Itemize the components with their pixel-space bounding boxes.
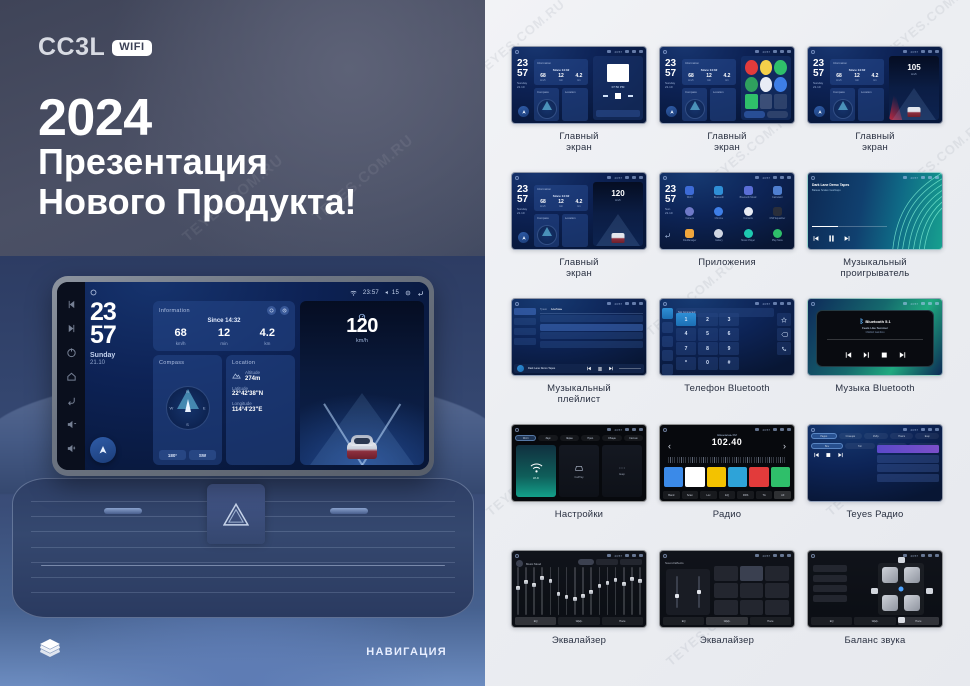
eq-slider[interactable]: [623, 567, 625, 615]
progress-bar[interactable]: [812, 226, 887, 227]
eq-toolbar[interactable]: EQЭфф.Поле: [663, 617, 791, 625]
mini-hud-speed: 105: [889, 63, 939, 72]
eq-toolbar[interactable]: EQЭфф.Поле: [515, 617, 643, 625]
favorite-icon[interactable]: [777, 313, 791, 326]
preset-5[interactable]: [749, 467, 768, 487]
compass-n: N: [186, 389, 189, 394]
key-hash[interactable]: #: [719, 357, 739, 370]
thumbnail-bt-phone[interactable]: 23:57 Not Connected 1 2 3 4 5 6 7: [659, 298, 795, 376]
compass-heading: 180°: [159, 450, 186, 460]
since-label: Since 14:32: [159, 318, 289, 324]
home-icon[interactable]: [66, 371, 77, 382]
gallery-item[interactable]: 23:57 2357 Sunday21.10 InformationSince …: [807, 46, 943, 166]
headline-line-1: Презентация: [38, 142, 357, 182]
gallery-caption: Эквалайзер: [552, 636, 606, 647]
thumbnail-music-player[interactable]: 23:57 Dark Lane Demo Tapes: [807, 172, 943, 250]
eq-slider[interactable]: [615, 567, 617, 615]
gallery-item[interactable]: 23:57 Dark Lane Demo Tapes: [807, 172, 943, 292]
app-item[interactable]: Contacts: [735, 204, 762, 225]
stop-icon: [880, 351, 889, 359]
previous-icon: [844, 351, 853, 359]
key-9[interactable]: 9: [719, 342, 739, 355]
app-label: Gallery: [715, 239, 723, 242]
key-star[interactable]: *: [676, 357, 696, 370]
compass-w: W: [170, 406, 174, 411]
latitude-value: 22°42'38"N: [232, 391, 289, 397]
thumbnail-home-hud[interactable]: 23:57 2357 Sunday21.10 InformationSince …: [807, 46, 943, 124]
bt-version-text: Bluetooth 5.1: [865, 319, 890, 324]
balance-up-button[interactable]: [898, 557, 905, 563]
gallery-caption: Главныйэкран: [559, 258, 598, 279]
stat-unit: km/h: [159, 341, 202, 346]
phone-sidebar[interactable]: [662, 308, 673, 375]
playlist-sidebar[interactable]: [514, 308, 536, 345]
hazard-light-button[interactable]: [207, 484, 265, 544]
tab-display[interactable]: Экран: [560, 435, 579, 441]
equalizer-sliders[interactable]: [517, 567, 641, 615]
volume-up-icon[interactable]: [66, 443, 77, 454]
eq-slider[interactable]: [590, 567, 592, 615]
stat-value: 12: [202, 328, 245, 339]
tab-tracks[interactable]: Треки: [540, 308, 547, 311]
longitude-value: 114°4'23"E: [232, 407, 289, 413]
gallery-item[interactable]: 23:57 Wi-Fi Звук Экран Прил. Общие Систе…: [511, 424, 647, 544]
gallery-item[interactable]: 23:57 РадиоСтанцииИзбр.ПоискЕщё ВсеТопЖа…: [807, 424, 943, 544]
eq-slider[interactable]: [533, 567, 535, 615]
app-item[interactable]: Gallery: [705, 225, 732, 246]
volume-value: 15: [392, 290, 399, 296]
app-item[interactable]: Bluetooth: [705, 182, 732, 203]
vent-slider-right[interactable]: [330, 508, 368, 514]
compass-s: S: [186, 422, 189, 427]
gallery-item[interactable]: 23:57 2357 Sun21.10 Wi-Fi Bluetooth Blue…: [659, 172, 795, 292]
playback-controls[interactable]: [812, 234, 851, 243]
key-3[interactable]: 3: [719, 313, 739, 326]
trip-stats: 68 km/h 12 min 4.2 km: [159, 328, 289, 346]
thumbnail-teyes-radio[interactable]: 23:57 РадиоСтанцииИзбр.ПоискЕщё ВсеТопЖа…: [807, 424, 943, 502]
location-card[interactable]: Location Altitude 274m: [226, 355, 295, 465]
prev-track-icon[interactable]: [66, 299, 77, 310]
eq-slider[interactable]: [550, 567, 552, 615]
app-item[interactable]: Wi-Fi: [676, 182, 703, 203]
play-pause-icon: [862, 351, 871, 359]
key-8[interactable]: 8: [698, 342, 718, 355]
bt-version-label: Bluetooth 5.1: [817, 318, 933, 324]
thumbnail-equalizer-bars[interactable]: 23:57 Music Mood: [511, 550, 647, 628]
bt-playback-controls[interactable]: [817, 351, 933, 359]
hero-footer: НАВИГАЦИЯ: [0, 626, 485, 686]
gallery-caption: Радио: [713, 510, 741, 521]
gallery-panel: TEYES.COM.RU TEYES.COM.RU TEYES.COM.RU T…: [485, 0, 970, 686]
back-arrow-icon[interactable]: [66, 395, 77, 406]
call-icon[interactable]: [777, 342, 791, 355]
gallery-caption: Телефон Bluetooth: [684, 384, 770, 395]
key-6[interactable]: 6: [719, 328, 739, 341]
gallery-item[interactable]: 23:57 Шэньчжэнь FM 102.40 ‹ ›: [659, 424, 795, 544]
gallery-caption: Музыкальныйпроигрыватель: [841, 258, 910, 279]
thumbnail-equalizer-presets[interactable]: 23:57 Sound Effects EQЭфф.Поле: [659, 550, 795, 628]
tab-sound[interactable]: Звук: [538, 435, 557, 441]
status-bar: 23:57 15: [90, 286, 424, 299]
eq-slider[interactable]: [525, 567, 527, 615]
gallery-caption: Главныйэкран: [707, 132, 746, 153]
dial-keypad[interactable]: 1 2 3 4 5 6 7 8 9 * 0 #: [676, 313, 739, 370]
refresh-icon[interactable]: [267, 306, 276, 315]
product-logo: CC3L WIFI: [38, 33, 152, 62]
mountain-icon: [232, 372, 241, 379]
thumbnail-home-apps[interactable]: 23:57 2357 Sunday21.10 InformationSince …: [659, 46, 795, 124]
setting-card-wifi[interactable]: Wi-Fi: [516, 445, 556, 497]
next-icon: [843, 235, 851, 242]
app-item[interactable]: DSP Equalizer: [764, 204, 791, 225]
longitude-label: Longitude: [232, 401, 289, 406]
app-grid[interactable]: Wi-Fi Bluetooth Bluetooth Music Calculat…: [676, 182, 791, 246]
wifi-icon[interactable]: [350, 290, 357, 296]
app-label: Chrome: [715, 217, 724, 220]
gallery-caption: Приложения: [698, 258, 756, 269]
eq-slider[interactable]: [582, 567, 584, 615]
app-label: Wi-Fi: [687, 196, 693, 199]
settings-tabs[interactable]: Wi-Fi Звук Экран Прил. Общие Систем: [515, 435, 643, 441]
app-item[interactable]: Music Player: [735, 225, 762, 246]
app-label: DSP Equalizer: [770, 217, 786, 220]
app-label: Music Player: [741, 239, 755, 242]
radio-next-button[interactable]: ›: [783, 442, 786, 451]
pause-icon: [827, 234, 836, 243]
history-icon[interactable]: [280, 306, 289, 315]
balance-left-button[interactable]: [871, 588, 878, 594]
navigation-fab-button[interactable]: [90, 437, 116, 463]
thumbnail-home-hud2[interactable]: 23:57 2357 Sunday21.10 InformationSince …: [511, 172, 647, 250]
latitude-label: Latitude: [232, 386, 289, 391]
app-item[interactable]: Bluetooth Music: [735, 182, 762, 203]
clock-minutes: 57: [90, 324, 148, 347]
tab-apps[interactable]: Прил.: [581, 435, 600, 441]
balance-right-button[interactable]: [926, 588, 933, 594]
stat-item: 12 min: [202, 328, 245, 346]
stat-unit: km: [246, 341, 289, 346]
preset-6[interactable]: [771, 467, 790, 487]
track-title: Dark Lane Demo Tapes: [812, 183, 895, 187]
thumbnail-settings[interactable]: 23:57 Wi-Fi Звук Экран Прил. Общие Систе…: [511, 424, 647, 502]
gallery-caption: Баланс звука: [845, 636, 906, 647]
mini-clock: 2357: [517, 59, 528, 78]
home-status-icon[interactable]: [90, 289, 97, 296]
thumbnail-balance[interactable]: 23:57: [807, 550, 943, 628]
car-3d-model: [347, 433, 377, 459]
product-logo-text: CC3L: [38, 33, 105, 62]
key-7[interactable]: 7: [676, 342, 696, 355]
eq-slider[interactable]: [639, 567, 641, 615]
key-2[interactable]: 2: [698, 313, 718, 326]
playlist-row[interactable]: [540, 324, 643, 331]
station-row[interactable]: [877, 474, 939, 482]
app-item[interactable]: FileManager: [676, 225, 703, 246]
gallery-caption: Музыкальныйплейлист: [547, 384, 611, 405]
gallery-item[interactable]: 23:57 ТрекиАльбомы Dark Lane Demo Tapes: [511, 298, 647, 418]
app-label: Contacts: [743, 217, 752, 220]
wifi-icon: [530, 463, 543, 474]
clock-date: 21.10: [90, 360, 148, 366]
vent-slider-left[interactable]: [104, 508, 142, 514]
gallery-item[interactable]: 23:57 2357 Sunday21.10 InformationSince …: [659, 46, 795, 166]
app-label: Bluetooth: [714, 196, 724, 199]
back-arrow-icon: [664, 232, 671, 238]
bt-progress[interactable]: [827, 339, 923, 340]
volume-indicator[interactable]: 15: [385, 290, 399, 296]
frequency-dial[interactable]: [668, 457, 786, 463]
station-row[interactable]: [877, 455, 939, 463]
altitude-value: 274m: [245, 376, 260, 382]
station-row[interactable]: [877, 445, 939, 453]
stat-value: 4.2: [246, 328, 289, 339]
preset-1[interactable]: [664, 467, 683, 487]
key-4[interactable]: 4: [676, 328, 696, 341]
compass-card[interactable]: Compass N S W E: [153, 355, 222, 465]
power-icon[interactable]: [66, 347, 77, 358]
app-label: Bluetooth Music: [740, 196, 757, 199]
key-0[interactable]: 0: [698, 357, 718, 370]
hero-panel: TEYES.COM.RU TEYES.COM.RU TEYES.COM.RU T…: [0, 0, 485, 686]
playlist-row[interactable]: [540, 315, 643, 322]
back-arrow-icon[interactable]: [417, 290, 424, 296]
wifi-badge: WIFI: [112, 40, 151, 56]
key-1[interactable]: 1: [676, 313, 696, 326]
preset-2[interactable]: [685, 467, 704, 487]
gallery-item[interactable]: 23:57 Not Connected 1 2 3 4 5 6 7: [659, 298, 795, 418]
gallery-item[interactable]: 23:57 2357 Sunday21.10 InformationSince …: [511, 172, 647, 292]
tab-wifi[interactable]: Wi-Fi: [515, 435, 536, 441]
stat-item: 4.2 km: [246, 328, 289, 346]
headline: Презентация Нового Продукта!: [38, 142, 357, 223]
radio-frequency: 102.40: [660, 437, 794, 447]
clock-day: Sunday: [90, 352, 148, 359]
next-icon: [898, 351, 907, 359]
station-list[interactable]: [877, 445, 939, 482]
volume-down-icon[interactable]: [66, 419, 77, 430]
bt-track-artist: Childish Gambino: [817, 331, 933, 334]
navigation-arrow-icon: [97, 444, 109, 456]
preset-4[interactable]: [728, 467, 747, 487]
station-row[interactable]: [877, 464, 939, 472]
tab-general[interactable]: Общие: [602, 435, 621, 441]
gallery-caption: Музыка Bluetooth: [835, 384, 915, 395]
stat-unit: min: [202, 341, 245, 346]
mini-player-bar[interactable]: Dark Lane Demo Tapes: [514, 364, 644, 373]
tab-albums[interactable]: Альбомы: [551, 308, 562, 311]
eq-slider[interactable]: [607, 567, 609, 615]
mini-hud-speed: 120: [593, 189, 643, 198]
app-item[interactable]: Calculator: [764, 182, 791, 203]
eq-slider[interactable]: [558, 567, 560, 615]
hud-widget[interactable]: 120 km/h: [300, 301, 424, 465]
eq-slider[interactable]: [631, 567, 633, 615]
stat-value: 68: [159, 328, 202, 339]
eq-slider[interactable]: [517, 567, 519, 615]
radio-prev-button[interactable]: ‹: [668, 442, 671, 451]
gallery-item[interactable]: 23:57 Sound Effects EQЭфф.Поле: [659, 550, 795, 670]
setting-card-more[interactable]: • • • Ещё: [602, 445, 642, 497]
eq-slider[interactable]: [541, 567, 543, 615]
app-label: Play Store: [772, 239, 783, 242]
hazard-triangle-icon: [223, 502, 249, 526]
balance-toolbar[interactable]: EQЭфф.Поле: [811, 617, 939, 625]
gallery-caption: Главныйэкран: [559, 132, 598, 153]
key-5[interactable]: 5: [698, 328, 718, 341]
hud-speed-value: 120: [300, 316, 424, 336]
app-item[interactable]: Chrome: [705, 204, 732, 225]
navigation-footer-label: НАВИГАЦИЯ: [366, 646, 447, 658]
bt-music-panel: Bluetooth 5.1 Feels Like Summer Childish…: [816, 310, 934, 367]
altitude-label: Altitude: [245, 370, 260, 375]
radio-toolbar[interactable]: BandScanLoc EQRDSTAAF: [663, 491, 791, 499]
eq-slider[interactable]: [566, 567, 568, 615]
year-title: 2024: [38, 88, 152, 148]
track-artist: Bateau Scalex Geshtapo: [812, 189, 895, 192]
playlist-row[interactable]: [540, 332, 643, 339]
car-icon: [574, 463, 584, 473]
head-unit-screen[interactable]: 23:57 15: [85, 282, 429, 470]
app-item[interactable]: Play Store: [764, 225, 791, 246]
preset-3[interactable]: [707, 467, 726, 487]
gallery-item[interactable]: 23:57 Bluetooth 5.1 Feels Like Summer Ch…: [807, 298, 943, 418]
eq-slider[interactable]: [599, 567, 601, 615]
radio-presets[interactable]: [664, 467, 790, 487]
tab-system[interactable]: Систем: [624, 435, 643, 441]
information-title: Information: [159, 308, 190, 314]
head-unit-device: 23:57 15: [52, 276, 434, 476]
now-playing-panel: [813, 447, 853, 458]
layers-icon: [38, 637, 62, 664]
app-label: Calculator: [772, 196, 783, 199]
screenshot-grid: 23:57 2357 Sunday21.10 Information Since…: [485, 0, 970, 670]
compass-dial: N S W E: [166, 386, 210, 430]
compass-direction: SW: [189, 450, 216, 460]
playlist-row[interactable]: [540, 341, 643, 348]
location-title: Location: [232, 360, 289, 366]
side-button-rail: [57, 282, 85, 470]
gallery-item[interactable]: 23:57: [807, 550, 943, 670]
stat-item: 68 km/h: [159, 328, 202, 346]
compass-e: E: [203, 406, 206, 411]
app-label: FileManager: [683, 239, 696, 242]
gear-icon[interactable]: [405, 290, 411, 296]
thumbnail-home-music[interactable]: 23:57 2357 Sunday21.10 Information Since…: [511, 46, 647, 124]
gallery-caption: Главныйэкран: [855, 132, 894, 153]
app-item[interactable]: Camera: [676, 204, 703, 225]
information-card[interactable]: Information Since 14:32: [153, 301, 295, 351]
clock-widget: 23 57 Sunday 21.10: [90, 301, 148, 465]
gallery-caption: Настройки: [555, 510, 603, 521]
gallery-item[interactable]: 23:57 Music Mood: [511, 550, 647, 670]
app-label: Camera: [685, 217, 694, 220]
headline-line-2: Нового Продукта!: [38, 182, 357, 222]
hud-speed-unit: km/h: [300, 338, 424, 344]
thumbnail-playlist[interactable]: 23:57 ТрекиАльбомы Dark Lane Demo Tapes: [511, 298, 647, 376]
thumbnail-radio[interactable]: 23:57 Шэньчжэнь FM 102.40 ‹ ›: [659, 424, 795, 502]
previous-icon: [812, 235, 820, 242]
thumbnail-apps[interactable]: 23:57 2357 Sun21.10 Wi-Fi Bluetooth Blue…: [659, 172, 795, 250]
presentation-slide: TEYES.COM.RU TEYES.COM.RU TEYES.COM.RU T…: [0, 0, 970, 686]
gallery-item[interactable]: 23:57 2357 Sunday21.10 Information Since…: [511, 46, 647, 166]
backspace-icon[interactable]: [777, 328, 791, 341]
balance-pad[interactable]: [878, 563, 924, 615]
gallery-caption: Эквалайзер: [700, 636, 754, 647]
thumbnail-bt-music[interactable]: 23:57 Bluetooth 5.1 Feels Like Summer Ch…: [807, 298, 943, 376]
setting-card-carplay[interactable]: CarPlay: [559, 445, 599, 497]
eq-slider[interactable]: [574, 567, 576, 615]
next-track-icon[interactable]: [66, 323, 77, 334]
status-time: 23:57: [363, 290, 379, 296]
bt-track-title: Feels Like Summer: [817, 326, 933, 330]
gallery-caption: Teyes Радио: [846, 510, 903, 521]
